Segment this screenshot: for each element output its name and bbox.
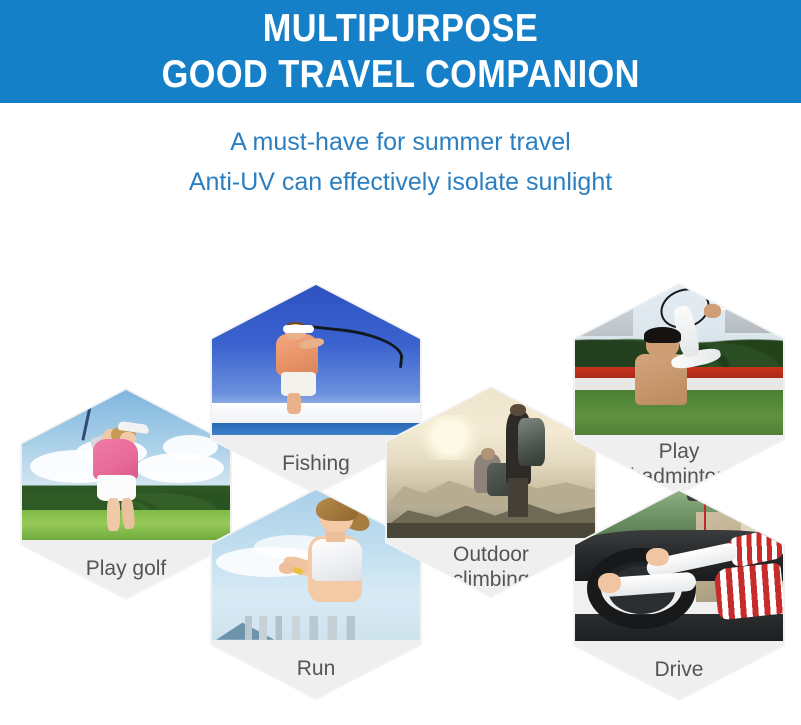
climber-man-backpack	[518, 418, 545, 466]
scene-drive	[575, 491, 783, 641]
run-city-skyline	[237, 616, 374, 640]
hexagon-label-play-badminton: Play badminton	[575, 435, 783, 493]
runner-hair	[316, 497, 358, 521]
runner-white-top	[312, 539, 362, 581]
fisherman-shorts	[281, 372, 316, 396]
badminton-player-hand	[704, 304, 721, 317]
climbing-sun-glow	[412, 415, 487, 460]
hexagon-label-text-run: Run	[297, 656, 336, 681]
hexagon-card-play-badminton[interactable]: Play badminton	[573, 283, 785, 495]
hexagon-label-text-drive: Drive	[654, 657, 703, 682]
photo-drive	[575, 491, 783, 641]
fishing-boat-deck	[212, 403, 420, 422]
climber-man-legs	[508, 478, 529, 517]
hexagon-label-text-play-badminton: Play badminton	[630, 439, 728, 489]
golf-cloud-4	[163, 435, 217, 459]
hexagon-inner-play-golf: Play golf	[22, 390, 230, 598]
photo-play-badminton	[575, 285, 783, 435]
hexagon-label-drive: Drive	[575, 641, 783, 699]
fisherman-leg	[287, 393, 302, 414]
hexagon-label-run: Run	[212, 640, 420, 698]
golf-player-pink-shirt	[93, 439, 139, 479]
scene-badminton	[575, 285, 783, 435]
scene-fishing	[212, 285, 420, 435]
photo-play-golf	[22, 390, 230, 540]
hexagon-inner-drive: Drive	[575, 491, 783, 699]
hexagon-label-text-fishing: Fishing	[282, 451, 350, 476]
badminton-player-hair	[644, 327, 681, 343]
golf-player-leg-front	[107, 498, 119, 531]
drive-rearview-mirror	[687, 491, 729, 501]
climbing-foreground-ridge	[387, 523, 595, 538]
fisherman-white-visor	[283, 325, 314, 332]
climber-woman-head	[481, 448, 496, 460]
hexagon-label-play-golf: Play golf	[22, 540, 230, 598]
activity-hexagon-grid: Play golf	[0, 0, 801, 725]
scene-golf	[22, 390, 230, 540]
drive-hand-lower	[598, 573, 621, 592]
hexagon-inner-play-badminton: Play badminton	[575, 285, 783, 493]
hexagon-label-text-outdoor-climbing: Outdoor climbing	[452, 542, 529, 592]
hexagon-card-play-golf[interactable]: Play golf	[20, 388, 232, 600]
photo-fishing	[212, 285, 420, 435]
golf-player-white-skirt	[97, 475, 137, 500]
hexagon-label-text-play-golf: Play golf	[86, 556, 167, 581]
drive-hand-upper	[646, 548, 669, 566]
hexagon-card-drive[interactable]: Drive	[573, 489, 785, 701]
drive-striped-shirt	[714, 563, 783, 621]
